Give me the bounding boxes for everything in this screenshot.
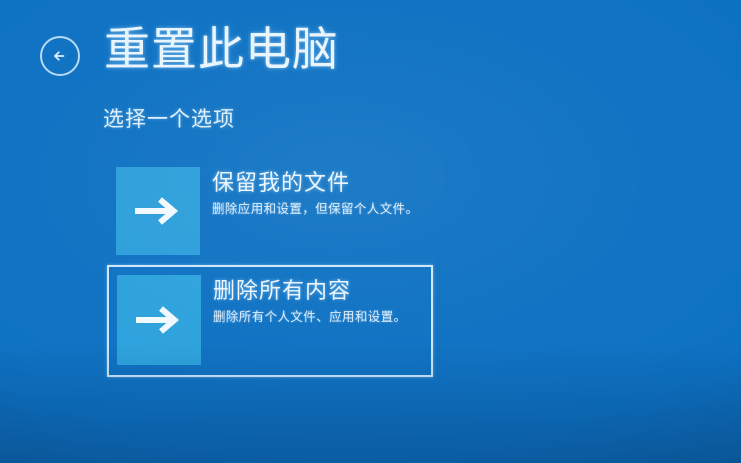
subtitle: 选择一个选项 xyxy=(103,103,235,133)
option-text: 删除所有内容 删除所有个人文件、应用和设置。 xyxy=(201,275,407,325)
option-heading: 保留我的文件 xyxy=(212,169,418,197)
option-tile xyxy=(117,275,201,365)
option-description: 删除应用和设置，但保留个人文件。 xyxy=(212,201,418,218)
right-arrow-icon xyxy=(131,191,185,231)
back-button[interactable] xyxy=(40,36,80,76)
back-arrow-circle-icon xyxy=(49,45,71,67)
right-arrow-icon xyxy=(132,300,186,340)
header: 重置此电脑 xyxy=(40,22,339,76)
option-keep-my-files[interactable]: 保留我的文件 删除应用和设置，但保留个人文件。 xyxy=(108,159,434,265)
reset-this-pc-screen: 重置此电脑 选择一个选项 保留我的文件 删除应用和设置，但保留个人文件。 删除所… xyxy=(0,0,741,463)
option-heading: 删除所有内容 xyxy=(213,277,407,305)
option-remove-everything[interactable]: 删除所有内容 删除所有个人文件、应用和设置。 xyxy=(107,265,433,377)
option-tile xyxy=(116,167,200,255)
page-title: 重置此电脑 xyxy=(104,25,339,73)
option-description: 删除所有个人文件、应用和设置。 xyxy=(213,309,407,326)
option-text: 保留我的文件 删除应用和设置，但保留个人文件。 xyxy=(200,167,418,217)
